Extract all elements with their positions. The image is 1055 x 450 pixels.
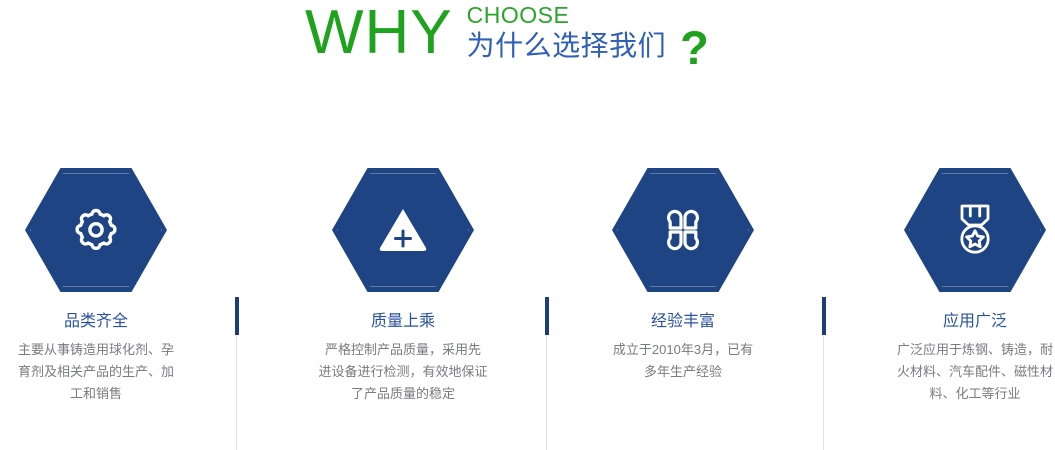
feature-description: 主要从事铸造用球化剂、孕 育剂及相关产品的生产、加 工和销售 bbox=[0, 339, 211, 405]
header-why-word: WHY bbox=[305, 2, 453, 64]
feature-item-2[interactable]: 质量上乘 严格控制产品质量，采用先 进设备进行检测，有效地保证 了产品质量的稳定 bbox=[288, 145, 518, 405]
feature-desc-line: 严格控制产品质量，采用先 bbox=[296, 339, 510, 361]
clover-icon bbox=[612, 168, 754, 292]
feature-title: 品类齐全 bbox=[0, 312, 211, 332]
divider-cap bbox=[822, 297, 826, 335]
features-row: 品类齐全 主要从事铸造用球化剂、孕 育剂及相关产品的生产、加 工和销售 质量上乘 bbox=[0, 145, 1055, 416]
divider-tail bbox=[236, 335, 237, 450]
header-text-stack: CHOOSE 为什么选择我们 bbox=[467, 3, 667, 62]
feature-desc-line: 火材料、汽车配件、磁性材 bbox=[868, 361, 1055, 383]
divider-cap bbox=[235, 297, 239, 335]
divider-1 bbox=[235, 297, 239, 450]
feature-desc-line: 广泛应用于炼钢、铸造，耐 bbox=[868, 339, 1055, 361]
divider-2 bbox=[545, 297, 549, 450]
feature-desc-line: 了产品质量的稳定 bbox=[296, 383, 510, 405]
feature-hexagon-2 bbox=[332, 168, 474, 292]
divider-tail bbox=[546, 335, 547, 450]
medal-icon bbox=[904, 168, 1046, 292]
feature-hexagon-1 bbox=[25, 168, 167, 292]
feature-item-1[interactable]: 品类齐全 主要从事铸造用球化剂、孕 育剂及相关产品的生产、加 工和销售 bbox=[0, 145, 211, 405]
feature-hexagon-3 bbox=[612, 168, 754, 292]
feature-title: 经验丰富 bbox=[568, 312, 798, 332]
divider-cap bbox=[545, 297, 549, 335]
feature-desc-line: 成立于2010年3月，已有 bbox=[576, 339, 790, 361]
gear-icon bbox=[25, 168, 167, 292]
feature-desc-line: 育剂及相关产品的生产、加 bbox=[0, 361, 203, 383]
divider-tail bbox=[823, 335, 824, 450]
feature-item-4[interactable]: 应用广泛 广泛应用于炼钢、铸造，耐 火材料、汽车配件、磁性材 料、化工等行业 bbox=[860, 145, 1055, 405]
header-choose-word: CHOOSE bbox=[467, 3, 667, 28]
section-header: WHY CHOOSE 为什么选择我们 ? bbox=[0, 0, 1055, 90]
divider-3 bbox=[822, 297, 826, 450]
feature-description: 成立于2010年3月，已有 多年生产经验 bbox=[568, 339, 798, 383]
header-question-mark: ? bbox=[680, 24, 709, 71]
feature-desc-line: 料、化工等行业 bbox=[868, 383, 1055, 405]
header-chinese-title: 为什么选择我们 bbox=[467, 30, 667, 62]
feature-description: 严格控制产品质量，采用先 进设备进行检测，有效地保证 了产品质量的稳定 bbox=[288, 339, 518, 405]
feature-hexagon-4 bbox=[904, 168, 1046, 292]
header-inner: WHY CHOOSE 为什么选择我们 ? bbox=[305, 0, 709, 71]
feature-description: 广泛应用于炼钢、铸造，耐 火材料、汽车配件、磁性材 料、化工等行业 bbox=[860, 339, 1055, 405]
feature-desc-line: 主要从事铸造用球化剂、孕 bbox=[0, 339, 203, 361]
feature-desc-line: 多年生产经验 bbox=[576, 361, 790, 383]
triangle-plus-icon bbox=[332, 168, 474, 292]
feature-desc-line: 进设备进行检测，有效地保证 bbox=[296, 361, 510, 383]
feature-item-3[interactable]: 经验丰富 成立于2010年3月，已有 多年生产经验 bbox=[568, 145, 798, 383]
feature-desc-line: 工和销售 bbox=[0, 383, 203, 405]
feature-title: 质量上乘 bbox=[288, 312, 518, 332]
feature-title: 应用广泛 bbox=[860, 312, 1055, 332]
